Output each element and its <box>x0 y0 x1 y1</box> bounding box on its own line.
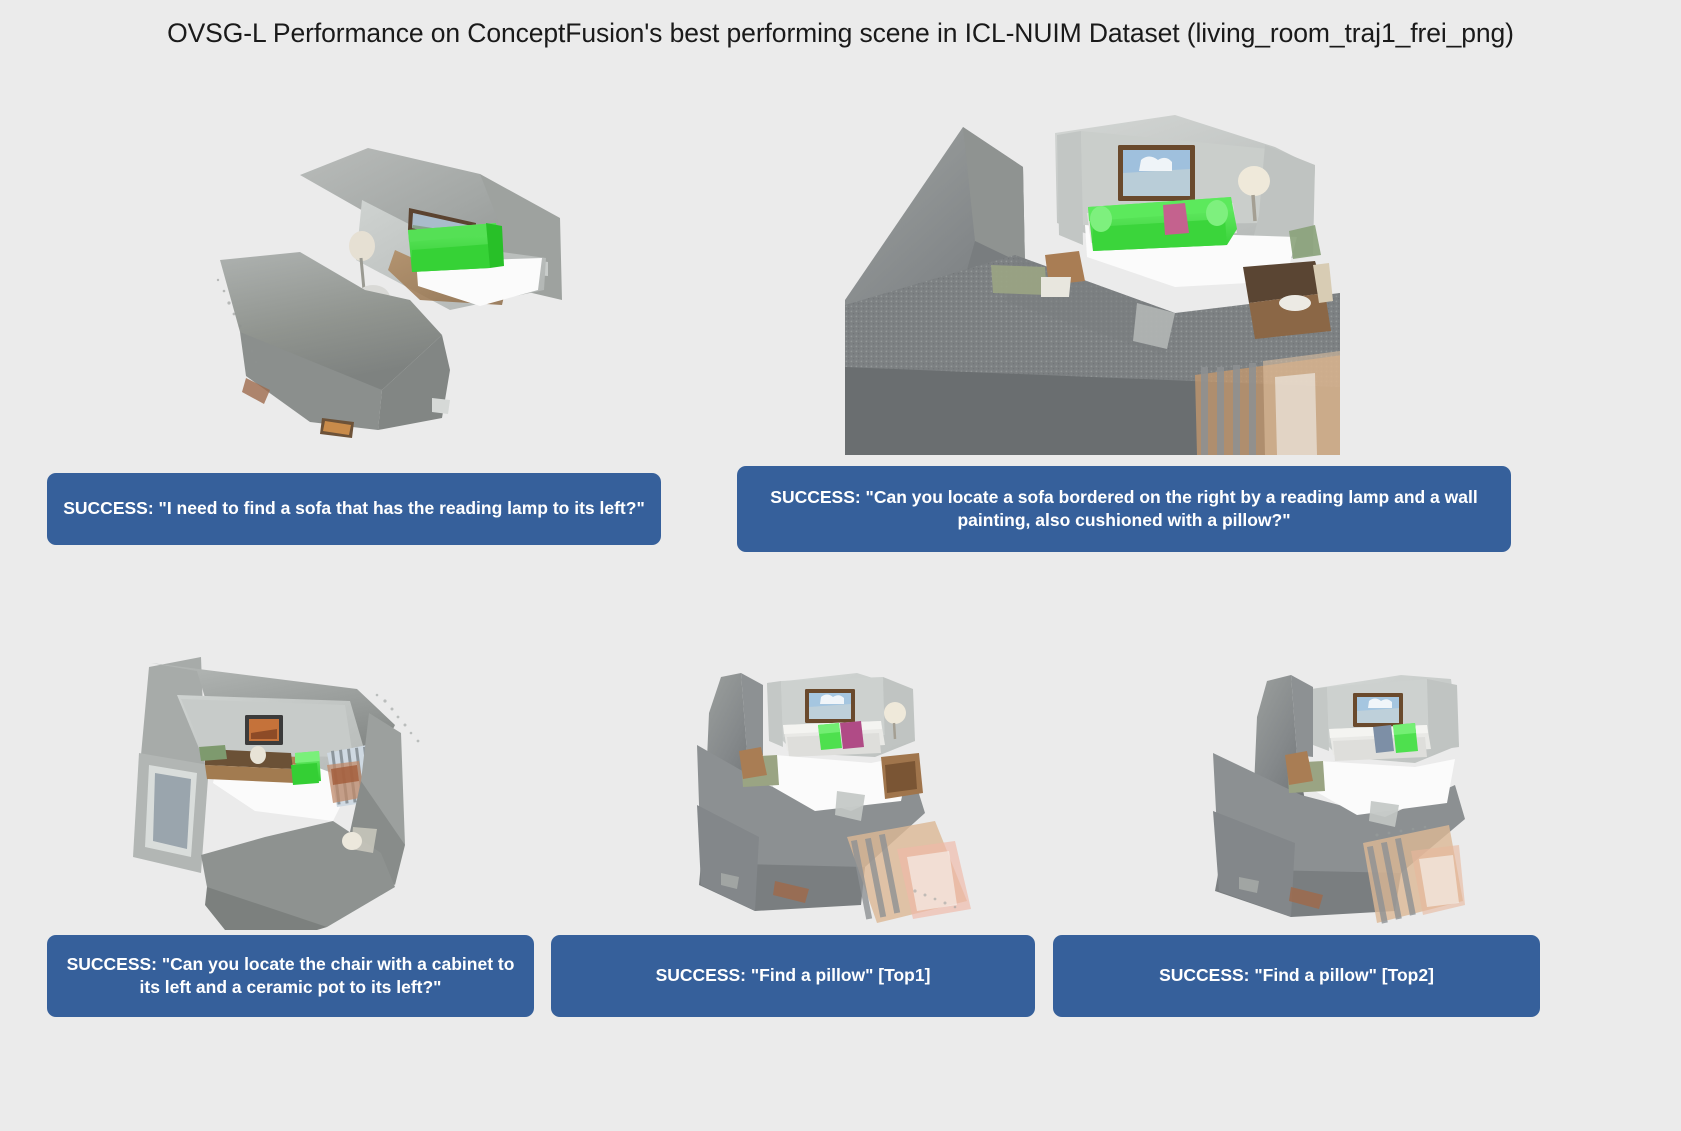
panel-3-visualization <box>105 605 450 930</box>
panel-4-visualization <box>635 605 985 925</box>
page-title: OVSG-L Performance on ConceptFusion's be… <box>0 18 1681 49</box>
highlighted-pillow-4 <box>818 723 842 750</box>
highlighted-pillow-5 <box>1393 723 1418 753</box>
ceramic-pot-3 <box>250 746 266 764</box>
panel-5-visualization <box>1115 605 1465 925</box>
cabinet-right-2 <box>1243 261 1333 339</box>
pillow-magenta-4 <box>840 721 864 749</box>
highlighted-chair-3 <box>291 751 321 785</box>
wall-painting-2 <box>1118 145 1195 201</box>
panel-2-caption: SUCCESS: "Can you locate a sofa bordered… <box>737 466 1511 552</box>
panel-1-visualization <box>150 100 570 445</box>
room-mesh-render-3 <box>105 605 450 930</box>
pillow-blue-5 <box>1373 725 1394 753</box>
panel-5-caption: SUCCESS: "Find a pillow" [Top2] <box>1053 935 1540 1017</box>
room-mesh-render-4 <box>635 605 985 925</box>
wall-painting-4 <box>805 689 855 723</box>
figure-page: OVSG-L Performance on ConceptFusion's be… <box>0 0 1681 1131</box>
panel-1-caption: SUCCESS: "I need to find a sofa that has… <box>47 473 661 545</box>
pillow-pink-2 <box>1163 203 1189 235</box>
floor-stripes-4 <box>847 821 971 923</box>
panel-2-visualization <box>845 105 1340 455</box>
plant-3 <box>199 745 227 761</box>
room-mesh-render-2 <box>845 105 1340 455</box>
room-mesh-render-5 <box>1115 605 1465 925</box>
room-mesh-render-1 <box>150 100 570 445</box>
wall-painting-5 <box>1353 693 1403 727</box>
panel-3-caption: SUCCESS: "Can you locate the chair with … <box>47 935 534 1017</box>
highlighted-sofa-1 <box>408 223 504 272</box>
wall-painting-3 <box>245 715 283 745</box>
panel-4-caption: SUCCESS: "Find a pillow" [Top1] <box>551 935 1035 1017</box>
